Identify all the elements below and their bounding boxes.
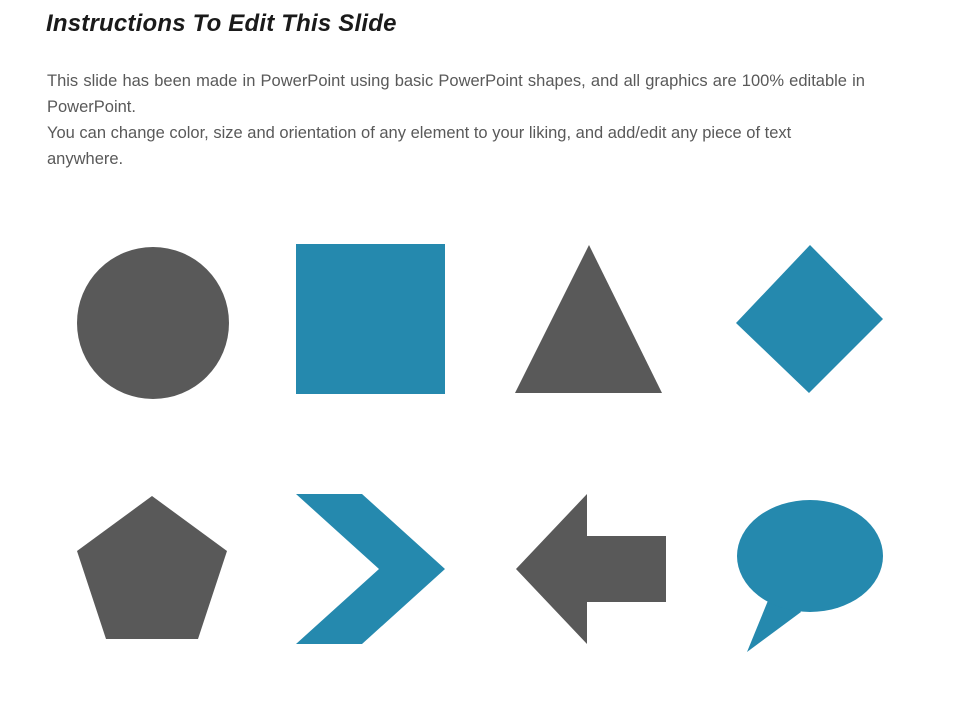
speech-bubble-icon bbox=[737, 500, 883, 652]
shape-pentagon[interactable] bbox=[70, 488, 240, 658]
diamond-icon bbox=[736, 245, 883, 393]
arrow-left-icon bbox=[516, 494, 666, 644]
square-icon bbox=[296, 244, 445, 394]
shape-triangle[interactable] bbox=[509, 238, 679, 408]
chevron-right-icon bbox=[296, 494, 445, 644]
shape-arrow-left[interactable] bbox=[509, 488, 679, 658]
instructions-paragraph-2: You can change color, size and orientati… bbox=[47, 120, 865, 172]
slide-canvas: Instructions To Edit This Slide This sli… bbox=[0, 0, 960, 720]
circle-icon bbox=[77, 247, 229, 399]
instructions-paragraph-1: This slide has been made in PowerPoint u… bbox=[47, 68, 865, 120]
shape-chevron-right[interactable] bbox=[289, 488, 459, 658]
shape-speech-bubble[interactable] bbox=[729, 488, 899, 658]
shape-diamond[interactable] bbox=[729, 238, 899, 408]
pentagon-icon bbox=[77, 496, 227, 639]
shape-circle[interactable] bbox=[70, 238, 240, 408]
triangle-icon bbox=[515, 245, 662, 393]
shape-square[interactable] bbox=[289, 238, 459, 408]
instructions-body: This slide has been made in PowerPoint u… bbox=[47, 68, 865, 172]
page-title: Instructions To Edit This Slide bbox=[46, 10, 397, 38]
